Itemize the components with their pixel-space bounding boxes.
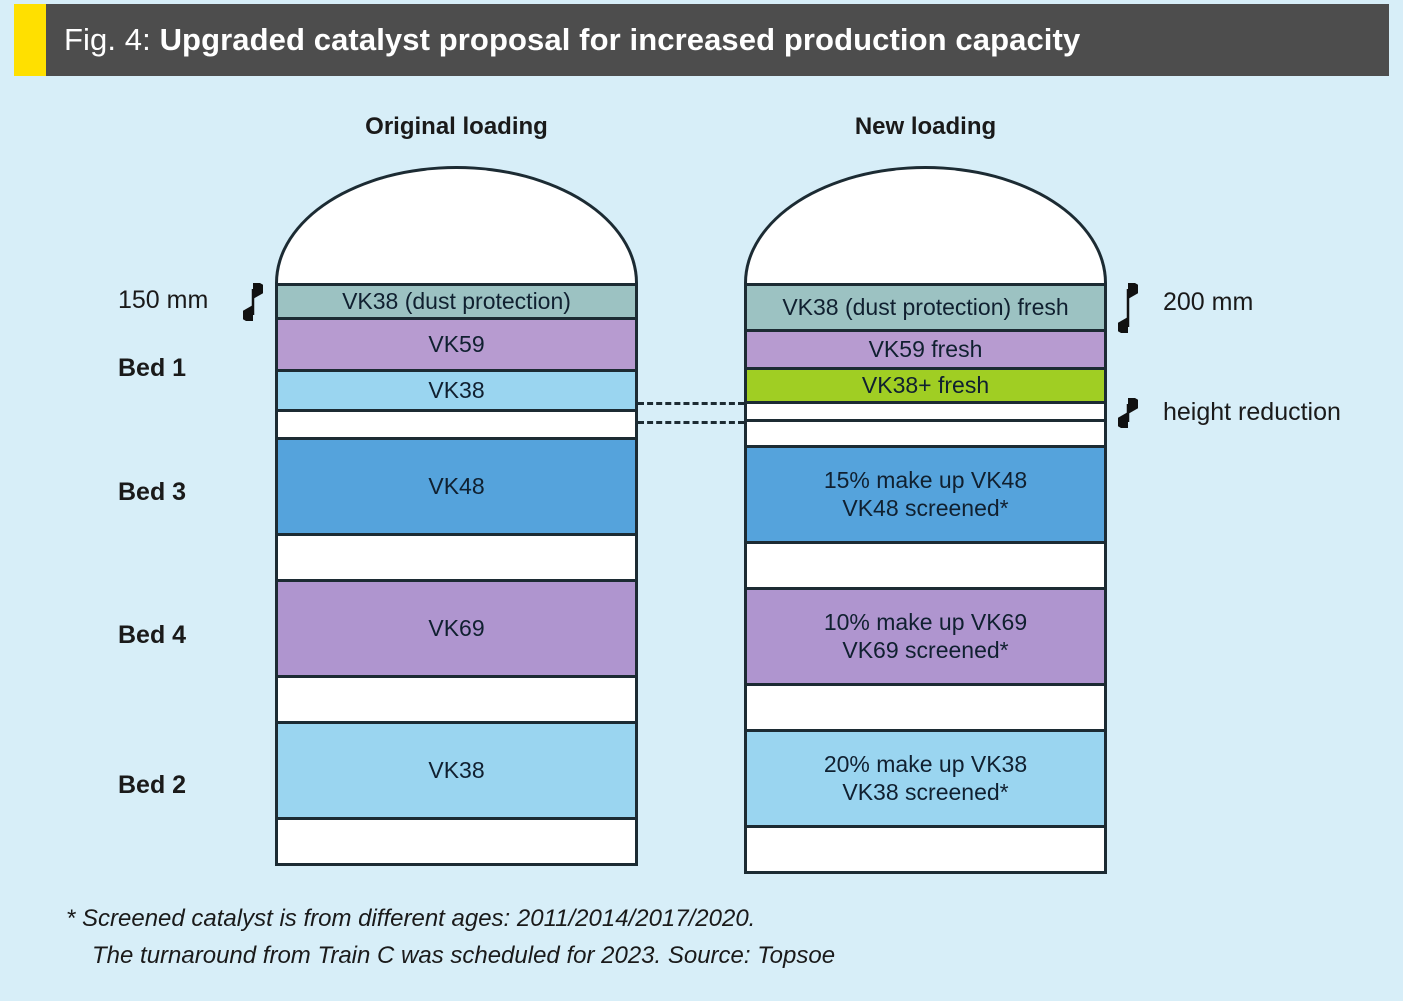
catalyst-layer-sublabel: VK48 screened* bbox=[842, 495, 1008, 522]
bed-label-1: Bed 1 bbox=[118, 354, 186, 383]
connector-dashed-lower bbox=[638, 421, 744, 424]
empty-layer-gap bbox=[744, 422, 1107, 448]
catalyst-layer-label: VK38 (dust protection) fresh bbox=[782, 294, 1068, 321]
catalyst-layer: 20% make up VK38VK38 screened* bbox=[744, 732, 1107, 828]
connector-dashed-upper bbox=[638, 402, 744, 405]
footnote-line-2: The turnaround from Train C was schedule… bbox=[92, 937, 1266, 974]
footnote-line-1: * Screened catalyst is from different ag… bbox=[66, 905, 755, 932]
bed-label-4: Bed 4 bbox=[118, 621, 186, 650]
empty-layer-gap bbox=[744, 828, 1107, 874]
catalyst-layer: 15% make up VK48VK48 screened* bbox=[744, 448, 1107, 544]
empty-layer-gap bbox=[275, 678, 638, 724]
catalyst-layer: VK38 bbox=[275, 724, 638, 820]
empty-layer-gap bbox=[744, 686, 1107, 732]
catalyst-layer-label: VK38 bbox=[428, 757, 484, 784]
measurement-label-150mm: 150 mm bbox=[118, 286, 208, 315]
reactor-dome-new bbox=[744, 166, 1107, 283]
catalyst-layer-label: 10% make up VK69 bbox=[824, 609, 1027, 636]
empty-layer-gap bbox=[275, 536, 638, 582]
catalyst-layer-label: VK48 bbox=[428, 473, 484, 500]
bed-label-2: Bed 2 bbox=[118, 771, 186, 800]
figure-header-bar: Fig. 4: Upgraded catalyst proposal for i… bbox=[14, 4, 1389, 76]
catalyst-layer: 10% make up VK69VK69 screened* bbox=[744, 590, 1107, 686]
column-title-new: New loading bbox=[744, 113, 1107, 141]
figure-title-text: Upgraded catalyst proposal for increased… bbox=[160, 22, 1081, 57]
height-reduction-arrow bbox=[1118, 398, 1138, 428]
layer-stack-new: VK38 (dust protection) freshVK59 freshVK… bbox=[744, 283, 1107, 874]
catalyst-layer-sublabel: VK69 screened* bbox=[842, 637, 1008, 664]
catalyst-layer-label: VK38 bbox=[428, 377, 484, 404]
layer-stack-original: VK38 (dust protection)VK59VK38VK48VK69VK… bbox=[275, 283, 638, 866]
catalyst-layer: VK69 bbox=[275, 582, 638, 678]
catalyst-layer-sublabel: VK38 screened* bbox=[842, 779, 1008, 806]
catalyst-layer-label: VK69 bbox=[428, 615, 484, 642]
bed-label-3: Bed 3 bbox=[118, 478, 186, 507]
measurement-arrow-left bbox=[243, 283, 263, 321]
empty-layer-gap bbox=[275, 820, 638, 866]
catalyst-layer: VK59 fresh bbox=[744, 332, 1107, 370]
catalyst-layer-label: 20% make up VK38 bbox=[824, 751, 1027, 778]
figure-number: Fig. 4: bbox=[64, 22, 151, 57]
catalyst-layer: VK38+ fresh bbox=[744, 370, 1107, 404]
catalyst-layer: VK38 bbox=[275, 372, 638, 412]
catalyst-layer-label: VK38+ fresh bbox=[862, 372, 989, 399]
catalyst-layer: VK38 (dust protection) bbox=[275, 283, 638, 320]
reactor-column-original: VK38 (dust protection)VK59VK38VK48VK69VK… bbox=[275, 166, 638, 866]
catalyst-layer: VK48 bbox=[275, 440, 638, 536]
catalyst-layer-label: VK38 (dust protection) bbox=[342, 288, 571, 315]
empty-layer-gap bbox=[275, 412, 638, 440]
measurement-label-200mm: 200 mm bbox=[1163, 288, 1253, 317]
empty-layer-gap bbox=[744, 404, 1107, 422]
reactor-column-new: VK38 (dust protection) freshVK59 freshVK… bbox=[744, 166, 1107, 874]
header-accent-block bbox=[14, 4, 46, 76]
column-title-original: Original loading bbox=[275, 113, 638, 141]
catalyst-layer: VK59 bbox=[275, 320, 638, 372]
catalyst-layer: VK38 (dust protection) fresh bbox=[744, 283, 1107, 332]
catalyst-layer-label: VK59 fresh bbox=[869, 336, 983, 363]
catalyst-layer-label: 15% make up VK48 bbox=[824, 467, 1027, 494]
height-reduction-label: height reduction bbox=[1163, 398, 1341, 427]
figure-footnote: * Screened catalyst is from different ag… bbox=[66, 900, 1266, 974]
reactor-dome-original bbox=[275, 166, 638, 283]
measurement-arrow-right bbox=[1118, 283, 1138, 333]
page-title: Fig. 4: Upgraded catalyst proposal for i… bbox=[64, 22, 1080, 58]
empty-layer-gap bbox=[744, 544, 1107, 590]
catalyst-layer-label: VK59 bbox=[428, 331, 484, 358]
